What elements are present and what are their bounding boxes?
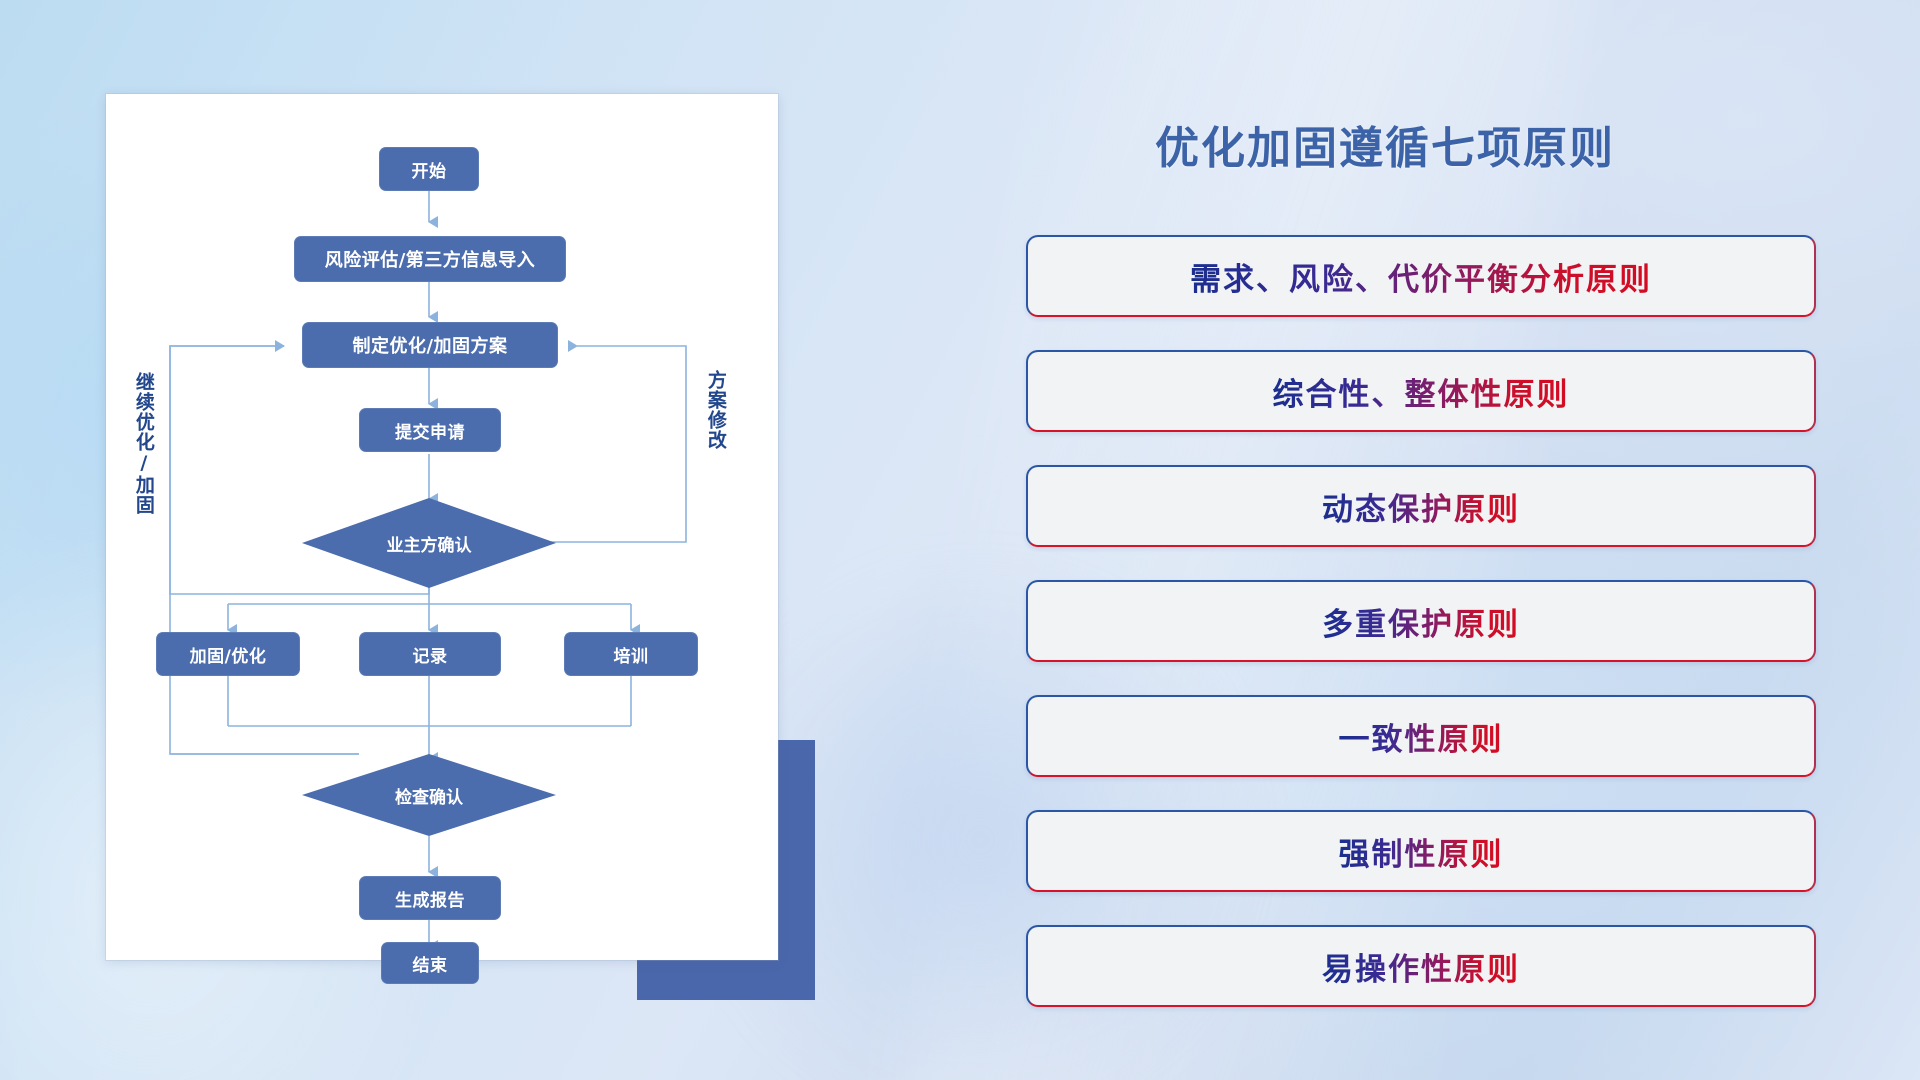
principle-card-2-label: 综合性、整体性原则 bbox=[1273, 369, 1570, 414]
flow-node-generate-report-label: 生成报告 bbox=[395, 886, 465, 911]
flow-node-end-label: 结束 bbox=[413, 951, 448, 976]
flow-node-make-plan[interactable]: 制定优化/加固方案 bbox=[302, 322, 558, 368]
flow-node-record-label: 记录 bbox=[413, 642, 448, 667]
flow-node-training-label: 培训 bbox=[614, 642, 649, 667]
flow-node-risk-assessment[interactable]: 风险评估/第三方信息导入 bbox=[294, 236, 566, 282]
flow-node-risk-assessment-label: 风险评估/第三方信息导入 bbox=[325, 246, 536, 272]
flow-node-start[interactable]: 开始 bbox=[379, 147, 479, 191]
flow-decision-check-confirm-shape[interactable]: 检查确认 bbox=[302, 754, 556, 836]
principle-card-7-label: 易操作性原则 bbox=[1322, 944, 1520, 989]
diamond-shape bbox=[302, 498, 556, 588]
principle-card-3-label: 动态保护原则 bbox=[1322, 484, 1520, 529]
principle-card-2[interactable]: 综合性、整体性原则 bbox=[1026, 350, 1816, 432]
flowchart-canvas: 开始 风险评估/第三方信息导入 制定优化/加固方案 提交申请 业主方确认 加固/… bbox=[106, 94, 778, 960]
diamond-shape bbox=[302, 754, 556, 836]
flow-node-reinforce-label: 加固/优化 bbox=[190, 642, 267, 667]
edge-label-continue-loop: 继续优化/加固 bbox=[132, 372, 154, 515]
principle-card-6-label: 强制性原则 bbox=[1339, 829, 1504, 874]
principle-card-4[interactable]: 多重保护原则 bbox=[1026, 580, 1816, 662]
flow-node-make-plan-label: 制定优化/加固方案 bbox=[352, 332, 507, 358]
principle-card-5-label: 一致性原则 bbox=[1339, 714, 1504, 759]
page-title: 优化加固遵循七项原则 bbox=[1155, 112, 1615, 176]
flow-node-reinforce[interactable]: 加固/优化 bbox=[156, 632, 300, 676]
slide-canvas: 开始 风险评估/第三方信息导入 制定优化/加固方案 提交申请 业主方确认 加固/… bbox=[0, 0, 1920, 1080]
flow-node-submit-label: 提交申请 bbox=[395, 418, 465, 443]
edge-label-plan-revision: 方案修改 bbox=[704, 370, 726, 450]
principle-card-3[interactable]: 动态保护原则 bbox=[1026, 465, 1816, 547]
flow-node-submit[interactable]: 提交申请 bbox=[359, 408, 501, 452]
principle-card-5[interactable]: 一致性原则 bbox=[1026, 695, 1816, 777]
principle-card-1-label: 需求、风险、代价平衡分析原则 bbox=[1190, 254, 1652, 299]
flow-node-record[interactable]: 记录 bbox=[359, 632, 501, 676]
flow-node-training[interactable]: 培训 bbox=[564, 632, 698, 676]
flow-node-generate-report[interactable]: 生成报告 bbox=[359, 876, 501, 920]
flow-node-end[interactable]: 结束 bbox=[381, 942, 479, 984]
flow-node-start-label: 开始 bbox=[412, 157, 447, 182]
principle-card-1[interactable]: 需求、风险、代价平衡分析原则 bbox=[1026, 235, 1816, 317]
flowchart-card: 开始 风险评估/第三方信息导入 制定优化/加固方案 提交申请 业主方确认 加固/… bbox=[106, 94, 778, 960]
principle-card-6[interactable]: 强制性原则 bbox=[1026, 810, 1816, 892]
flow-decision-owner-confirm[interactable]: 业主方确认 bbox=[302, 498, 556, 588]
principle-card-7[interactable]: 易操作性原则 bbox=[1026, 925, 1816, 1007]
principle-card-4-label: 多重保护原则 bbox=[1322, 599, 1520, 644]
principles-list: 需求、风险、代价平衡分析原则 综合性、整体性原则 动态保护原则 多重保护原则 一… bbox=[1026, 235, 1816, 1007]
